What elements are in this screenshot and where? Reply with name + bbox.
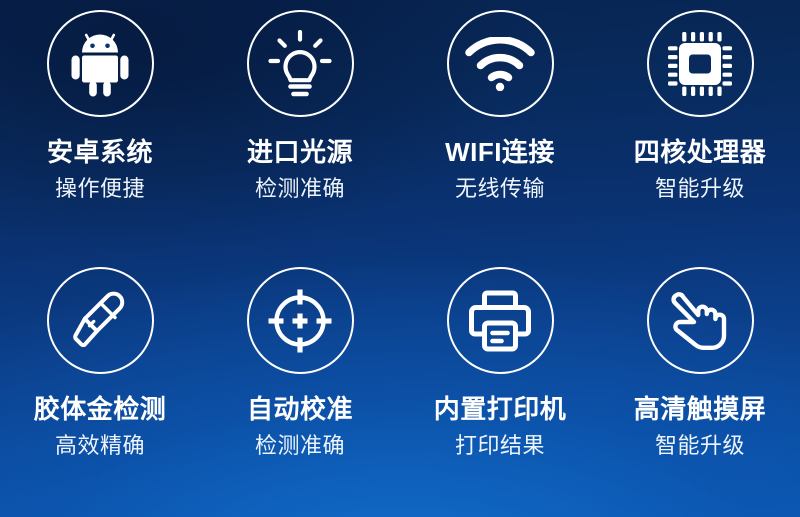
feature-card-auto-calibration[interactable]: 自动校准 检测准确: [200, 257, 400, 517]
wifi-signal-icon: [447, 10, 554, 117]
crosshair-target-icon: [247, 267, 354, 374]
feature-title: 高清触摸屏: [634, 396, 767, 422]
cpu-chip-icon: [647, 10, 754, 117]
feature-title: 胶体金检测: [34, 396, 167, 422]
feature-subtitle: 检测准确: [255, 435, 345, 457]
feature-subtitle: 操作便捷: [55, 178, 145, 200]
feature-subtitle: 打印结果: [455, 435, 545, 457]
feature-subtitle: 检测准确: [255, 178, 345, 200]
feature-title: WIFI连接: [445, 139, 555, 165]
feature-subtitle: 无线传输: [455, 178, 545, 200]
feature-subtitle: 高效精确: [55, 435, 145, 457]
feature-title: 安卓系统: [47, 139, 153, 165]
feature-card-light-source[interactable]: 进口光源 检测准确: [200, 0, 400, 257]
pipette-dropper-icon: [47, 267, 154, 374]
feature-card-processor[interactable]: 四核处理器 智能升级: [600, 0, 800, 257]
feature-card-touchscreen[interactable]: 高清触摸屏 智能升级: [600, 257, 800, 517]
feature-subtitle: 智能升级: [655, 178, 745, 200]
feature-grid: 安卓系统 操作便捷 进口光源 检测准确: [0, 0, 800, 517]
feature-title: 进口光源: [247, 139, 353, 165]
light-bulb-icon: [247, 10, 354, 117]
feature-subtitle: 智能升级: [655, 435, 745, 457]
printer-icon: [447, 267, 554, 374]
feature-title: 四核处理器: [634, 139, 767, 165]
feature-card-printer[interactable]: 内置打印机 打印结果: [400, 257, 600, 517]
feature-card-android[interactable]: 安卓系统 操作便捷: [0, 0, 200, 257]
android-robot-icon: [47, 10, 154, 117]
touch-hand-icon: [647, 267, 754, 374]
feature-title: 自动校准: [247, 396, 353, 422]
feature-title: 内置打印机: [434, 396, 567, 422]
feature-card-colloidal-gold[interactable]: 胶体金检测 高效精确: [0, 257, 200, 517]
feature-card-wifi[interactable]: WIFI连接 无线传输: [400, 0, 600, 257]
feature-banner: 安卓系统 操作便捷 进口光源 检测准确: [0, 0, 800, 517]
